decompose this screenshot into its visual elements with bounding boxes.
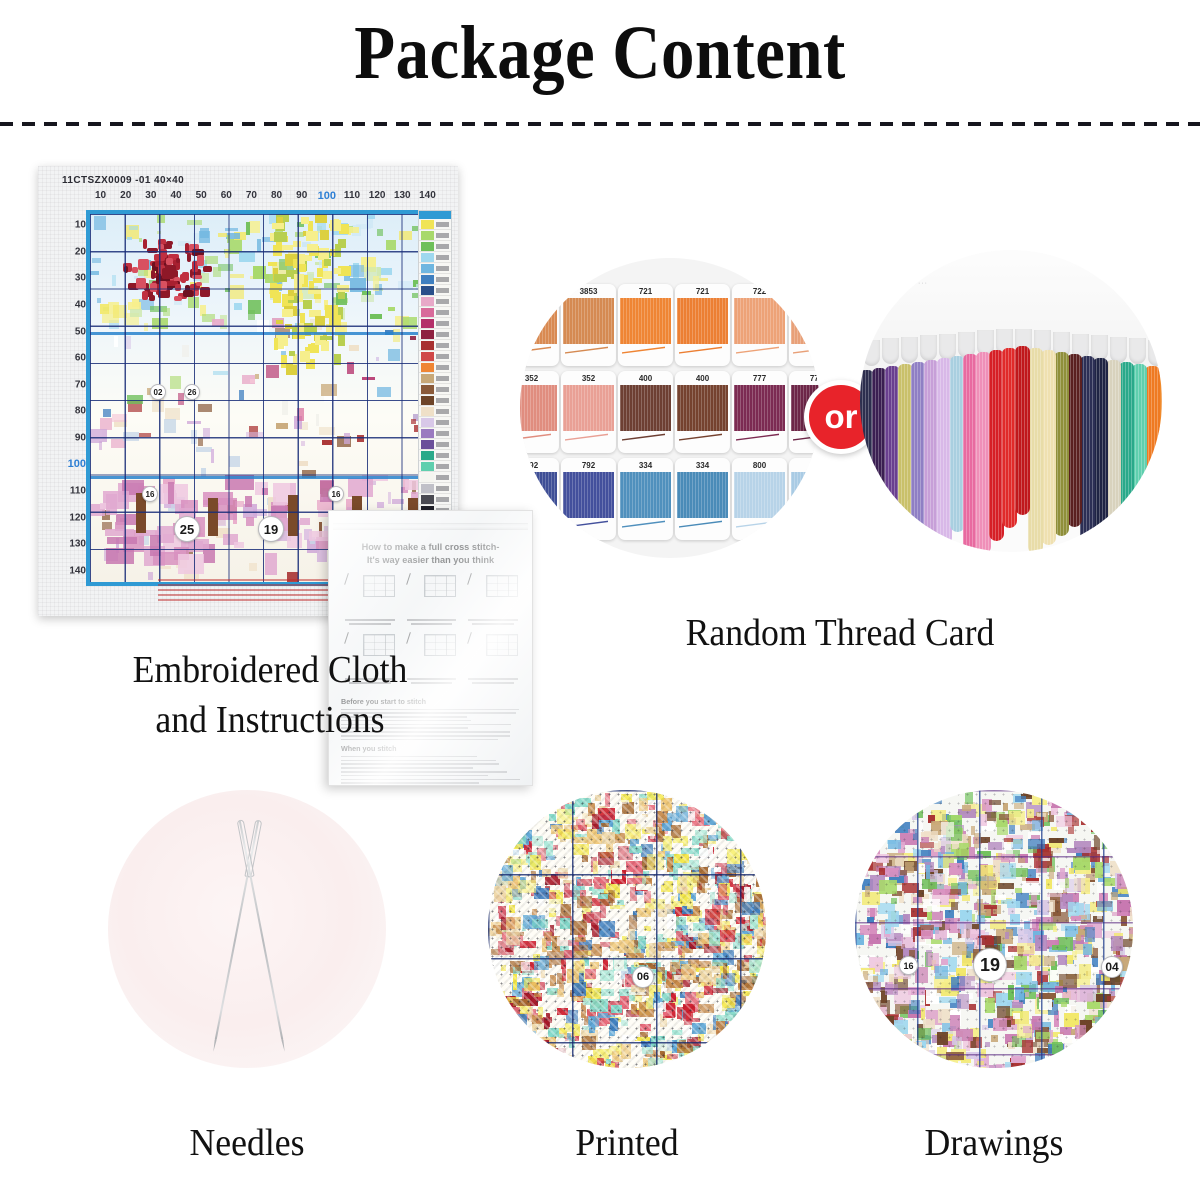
- symbol-code: [436, 332, 449, 337]
- color-swatch: [421, 220, 434, 229]
- package-content-infographic: Package Content 11CTSZX0009 -01 40×40 10…: [0, 0, 1200, 1200]
- stitch-diagram: [464, 573, 522, 629]
- color-key-row: [419, 351, 451, 362]
- thread-skein: [1028, 348, 1043, 552]
- color-key-row: [419, 252, 451, 263]
- color-swatch: [421, 418, 434, 427]
- bobbin-code: 792: [520, 461, 559, 470]
- thread-skein: [1145, 366, 1160, 552]
- bobbin-code: 721: [675, 287, 730, 296]
- needle-icon: [405, 632, 414, 644]
- instruction-line: [341, 775, 488, 777]
- printed-marker: 06: [632, 966, 654, 988]
- color-key-row: [419, 340, 451, 351]
- row-tick: 20: [75, 246, 86, 257]
- symbol-code: [436, 398, 449, 403]
- column-tick: 110: [344, 190, 360, 201]
- color-swatch: [421, 242, 434, 251]
- symbol-code: [436, 222, 449, 227]
- color-swatch: [421, 253, 434, 262]
- needle: [237, 819, 286, 1040]
- color-swatch: [421, 440, 434, 449]
- needle: [213, 819, 262, 1040]
- bobbin-code: 334: [618, 461, 673, 470]
- symbol-code: [436, 244, 449, 249]
- color-swatch: [421, 231, 434, 240]
- pattern-marker-small: 16: [142, 486, 158, 502]
- bobbin-code: 352: [561, 374, 616, 383]
- color-key-row: [419, 241, 451, 252]
- color-swatch: [421, 363, 434, 372]
- bobbin-code: 721: [618, 287, 673, 296]
- thread-skein-bundle: [860, 346, 1162, 552]
- column-tick: 20: [120, 190, 131, 201]
- thread-skein: [1132, 364, 1147, 552]
- column-tick: 50: [196, 190, 207, 201]
- color-swatch: [421, 286, 434, 295]
- color-swatch: [421, 341, 434, 350]
- needle-shaft: [239, 820, 284, 1040]
- bobbin-code: 800: [732, 461, 787, 470]
- instruction-line: [341, 760, 496, 762]
- stitch-grid: [363, 575, 395, 597]
- thread-bobbins-photo: 3853385372172172272235235240040077777779…: [520, 258, 820, 558]
- color-swatch: [421, 396, 434, 405]
- color-key-row: [419, 472, 451, 483]
- thread-caption: Random Thread Card: [614, 608, 1065, 658]
- bobbin-floss: [734, 298, 785, 344]
- column-tick: 130: [394, 190, 411, 201]
- instruction-title: How to make a full cross stitch- It's wa…: [339, 541, 522, 568]
- thread-bobbin: 800: [789, 458, 820, 540]
- row-tick: 30: [75, 273, 86, 284]
- stitch-step-caption: [403, 619, 461, 627]
- stitch-diagram: [464, 632, 522, 688]
- bobbin-code: 722: [789, 287, 820, 296]
- row-tick: 70: [75, 379, 86, 390]
- drawings-caption: Drawings: [863, 1118, 1124, 1168]
- color-swatch: [421, 407, 434, 416]
- color-swatch: [421, 319, 434, 328]
- thread-skein: [1093, 358, 1108, 552]
- thread-bobbin: 352: [561, 371, 616, 453]
- stitch-step-caption: [464, 619, 522, 627]
- symbol-code: [436, 387, 449, 392]
- drawing-marker: 04: [1101, 956, 1123, 978]
- symbol-code: [436, 255, 449, 260]
- zip-seal: [333, 523, 528, 530]
- symbol-code: [436, 277, 449, 282]
- color-swatch: [421, 451, 434, 460]
- column-tick: 30: [145, 190, 156, 201]
- symbol-code: [436, 376, 449, 381]
- symbol-code: [436, 497, 449, 502]
- symbol-code: [436, 420, 449, 425]
- column-tick: 40: [170, 190, 181, 201]
- symbol-code: [436, 321, 449, 326]
- bobbin-floss: [520, 472, 557, 518]
- color-swatch: [421, 275, 434, 284]
- drawing-marker: 19: [973, 948, 1007, 982]
- color-key-row: [419, 428, 451, 439]
- needles-caption: Needles: [116, 1118, 377, 1168]
- color-key-row: [419, 395, 451, 406]
- needle-tip: [212, 1040, 216, 1052]
- thread-bobbin: 792: [561, 458, 616, 540]
- symbol-code: [436, 354, 449, 359]
- bobbin-floss: [563, 472, 614, 518]
- needle-icon: [466, 573, 475, 585]
- bobbin-floss: [620, 472, 671, 518]
- page-title: Package Content: [72, 14, 1128, 94]
- color-swatch: [421, 429, 434, 438]
- thread-skein: [1041, 350, 1056, 545]
- color-key-row: [419, 461, 451, 472]
- bobbin-code: 3853: [561, 287, 616, 296]
- color-key-row: [419, 450, 451, 461]
- needle-icon: [466, 632, 475, 644]
- instruction-line: [341, 756, 477, 758]
- thread-bobbin: 777: [732, 371, 787, 453]
- column-ruler: 102030405060708090100110120130140: [88, 190, 440, 208]
- bobbin-code: 352: [520, 374, 559, 383]
- symbol-code: [436, 486, 449, 491]
- cloth-caption: Embroidered Cloth and Instructions: [73, 645, 468, 745]
- instruction-line: [341, 767, 473, 769]
- color-key-row: [419, 219, 451, 230]
- color-key-row: [419, 384, 451, 395]
- row-tick: 50: [75, 326, 86, 337]
- thread-bobbin: 400: [618, 371, 673, 453]
- column-tick: 80: [271, 190, 282, 201]
- needle-icon: [405, 573, 414, 585]
- printed-caption: Printed: [496, 1118, 757, 1168]
- thread-skein: [1080, 356, 1095, 552]
- thread-skein: [1067, 354, 1082, 527]
- pattern-marker: 19: [258, 516, 284, 542]
- instruction-line: [341, 782, 479, 784]
- thread-bobbin: 800: [732, 458, 787, 540]
- thread-bobbin: 721: [618, 284, 673, 366]
- bobbin-floss: [677, 472, 728, 518]
- printed-gridlines: [488, 790, 766, 1068]
- thread-card-code: ·········: [898, 280, 928, 287]
- row-tick: 40: [75, 300, 86, 311]
- color-key-row: [419, 263, 451, 274]
- color-swatch: [421, 462, 434, 471]
- symbol-code: [436, 310, 449, 315]
- thread-bobbin: 792: [520, 458, 559, 540]
- color-swatch: [421, 374, 434, 383]
- pattern-marker-small: 16: [328, 486, 344, 502]
- color-swatch: [421, 330, 434, 339]
- row-tick: 110: [70, 486, 86, 497]
- thread-bobbin: 721: [675, 284, 730, 366]
- column-tick: 70: [246, 190, 257, 201]
- pattern-marker-small: 26: [184, 384, 200, 400]
- symbol-code: [436, 233, 449, 238]
- color-key-row: [419, 285, 451, 296]
- stitch-grid: [486, 575, 518, 597]
- stitch-diagram: [403, 573, 461, 629]
- drawing-marker: 16: [899, 956, 918, 975]
- thread-skein: [1054, 352, 1069, 536]
- bobbin-code: 777: [732, 374, 787, 383]
- thread-skeins-photo: ·········: [860, 250, 1162, 552]
- fabric-code-label: 11CTSZX0009 -01 40×40: [62, 175, 184, 186]
- color-swatch: [421, 264, 434, 273]
- row-tick: 100: [68, 458, 86, 470]
- color-key-row: [419, 296, 451, 307]
- bobbin-code: 777: [789, 374, 820, 383]
- instruction-heading: When you stitch: [341, 744, 522, 753]
- color-key-row: [419, 494, 451, 505]
- column-tick: 10: [95, 190, 106, 201]
- bobbin-floss: [620, 298, 671, 344]
- thread-bobbin: 334: [675, 458, 730, 540]
- row-tick: 60: [75, 353, 86, 364]
- thread-bobbin: 400: [675, 371, 730, 453]
- color-key-row: [419, 274, 451, 285]
- column-tick: 60: [221, 190, 232, 201]
- bobbin-floss: [791, 298, 820, 344]
- symbol-code: [436, 453, 449, 458]
- bobbin-floss: [734, 472, 785, 518]
- stitch-diagram: [341, 573, 399, 629]
- bobbin-code: 792: [561, 461, 616, 470]
- color-key-row: [419, 362, 451, 373]
- row-tick: 80: [75, 406, 86, 417]
- symbol-code: [436, 299, 449, 304]
- bobbin-code: 334: [675, 461, 730, 470]
- color-key-row: [419, 329, 451, 340]
- thread-bobbin: 722: [732, 284, 787, 366]
- bobbin-floss: [791, 472, 820, 518]
- embroidered-cloth-group: 11CTSZX0009 -01 40×40 102030405060708090…: [38, 166, 458, 616]
- color-swatch: [421, 385, 434, 394]
- pattern-marker-small: 02: [150, 384, 166, 400]
- needles-photo: [108, 790, 386, 1068]
- bobbin-floss: [734, 385, 785, 431]
- color-key-row: [419, 373, 451, 384]
- thread-bobbin: 722: [789, 284, 820, 366]
- color-key-row: [419, 230, 451, 241]
- row-tick: 10: [75, 220, 86, 231]
- bobbin-floss: [677, 298, 728, 344]
- color-swatch: [421, 495, 434, 504]
- thread-bobbin: 334: [618, 458, 673, 540]
- thread-skein: [1015, 346, 1030, 515]
- drawings-photo: 19 16 04: [855, 790, 1133, 1068]
- row-tick: 140: [69, 565, 86, 576]
- bobbin-code: 400: [618, 374, 673, 383]
- bobbin-floss: [563, 385, 614, 431]
- bobbin-floss: [520, 298, 557, 344]
- bobbin-floss: [620, 385, 671, 431]
- stitch-step-caption: [464, 678, 522, 686]
- thread-skein: [1119, 362, 1134, 539]
- color-key-row: [419, 483, 451, 494]
- bobbin-floss: [677, 385, 728, 431]
- color-key-row: [419, 417, 451, 428]
- instruction-line: [341, 771, 507, 773]
- thread-bobbin: 352: [520, 371, 559, 453]
- stitch-grid: [424, 575, 456, 597]
- column-tick: 90: [296, 190, 307, 201]
- color-key-row: [419, 318, 451, 329]
- symbol-code: [436, 442, 449, 447]
- bobbin-code: 800: [789, 461, 820, 470]
- column-tick: 140: [419, 190, 436, 201]
- symbol-code: [436, 431, 449, 436]
- bobbin-floss: [520, 385, 557, 431]
- column-tick: 120: [369, 190, 386, 201]
- color-key-row: [419, 439, 451, 450]
- row-tick: 120: [69, 512, 86, 523]
- instruction-line: [341, 779, 520, 781]
- thread-bobbin: 3853: [561, 284, 616, 366]
- stitch-step-caption: [341, 619, 399, 627]
- bobbin-floss: [563, 298, 614, 344]
- symbol-code: [436, 266, 449, 271]
- color-swatch: [421, 308, 434, 317]
- header-divider: [0, 122, 1200, 126]
- needle-icon: [343, 573, 352, 585]
- pattern-marker: 25: [174, 516, 200, 542]
- stitch-grid: [486, 634, 518, 656]
- bobbin-code: 400: [675, 374, 730, 383]
- row-tick: 130: [69, 539, 86, 550]
- color-key-row: [419, 307, 451, 318]
- needle-tip: [281, 1040, 285, 1052]
- row-tick: 90: [75, 432, 86, 443]
- symbol-code: [436, 409, 449, 414]
- color-swatch: [421, 297, 434, 306]
- color-swatch: [421, 484, 434, 493]
- column-tick: 100: [318, 190, 336, 202]
- bobbin-code: 722: [732, 287, 787, 296]
- symbol-code: [436, 475, 449, 480]
- symbol-code: [436, 464, 449, 469]
- symbol-code: [436, 343, 449, 348]
- instruction-line: [341, 763, 499, 765]
- bobbin-code: 3853: [520, 287, 559, 296]
- drawing-gridlines: [855, 790, 1133, 1068]
- printed-fabric-photo: 06: [488, 790, 766, 1068]
- row-ruler: 102030405060708090100110120130140: [56, 212, 86, 584]
- needle-icon: [343, 632, 352, 644]
- symbol-code: [436, 365, 449, 370]
- color-key-row: [419, 406, 451, 417]
- color-swatch: [421, 473, 434, 482]
- thread-skein: [1106, 360, 1121, 548]
- color-swatch: [421, 352, 434, 361]
- needle-shaft: [215, 820, 260, 1040]
- symbol-code: [436, 288, 449, 293]
- thread-bobbin: 3853: [520, 284, 559, 366]
